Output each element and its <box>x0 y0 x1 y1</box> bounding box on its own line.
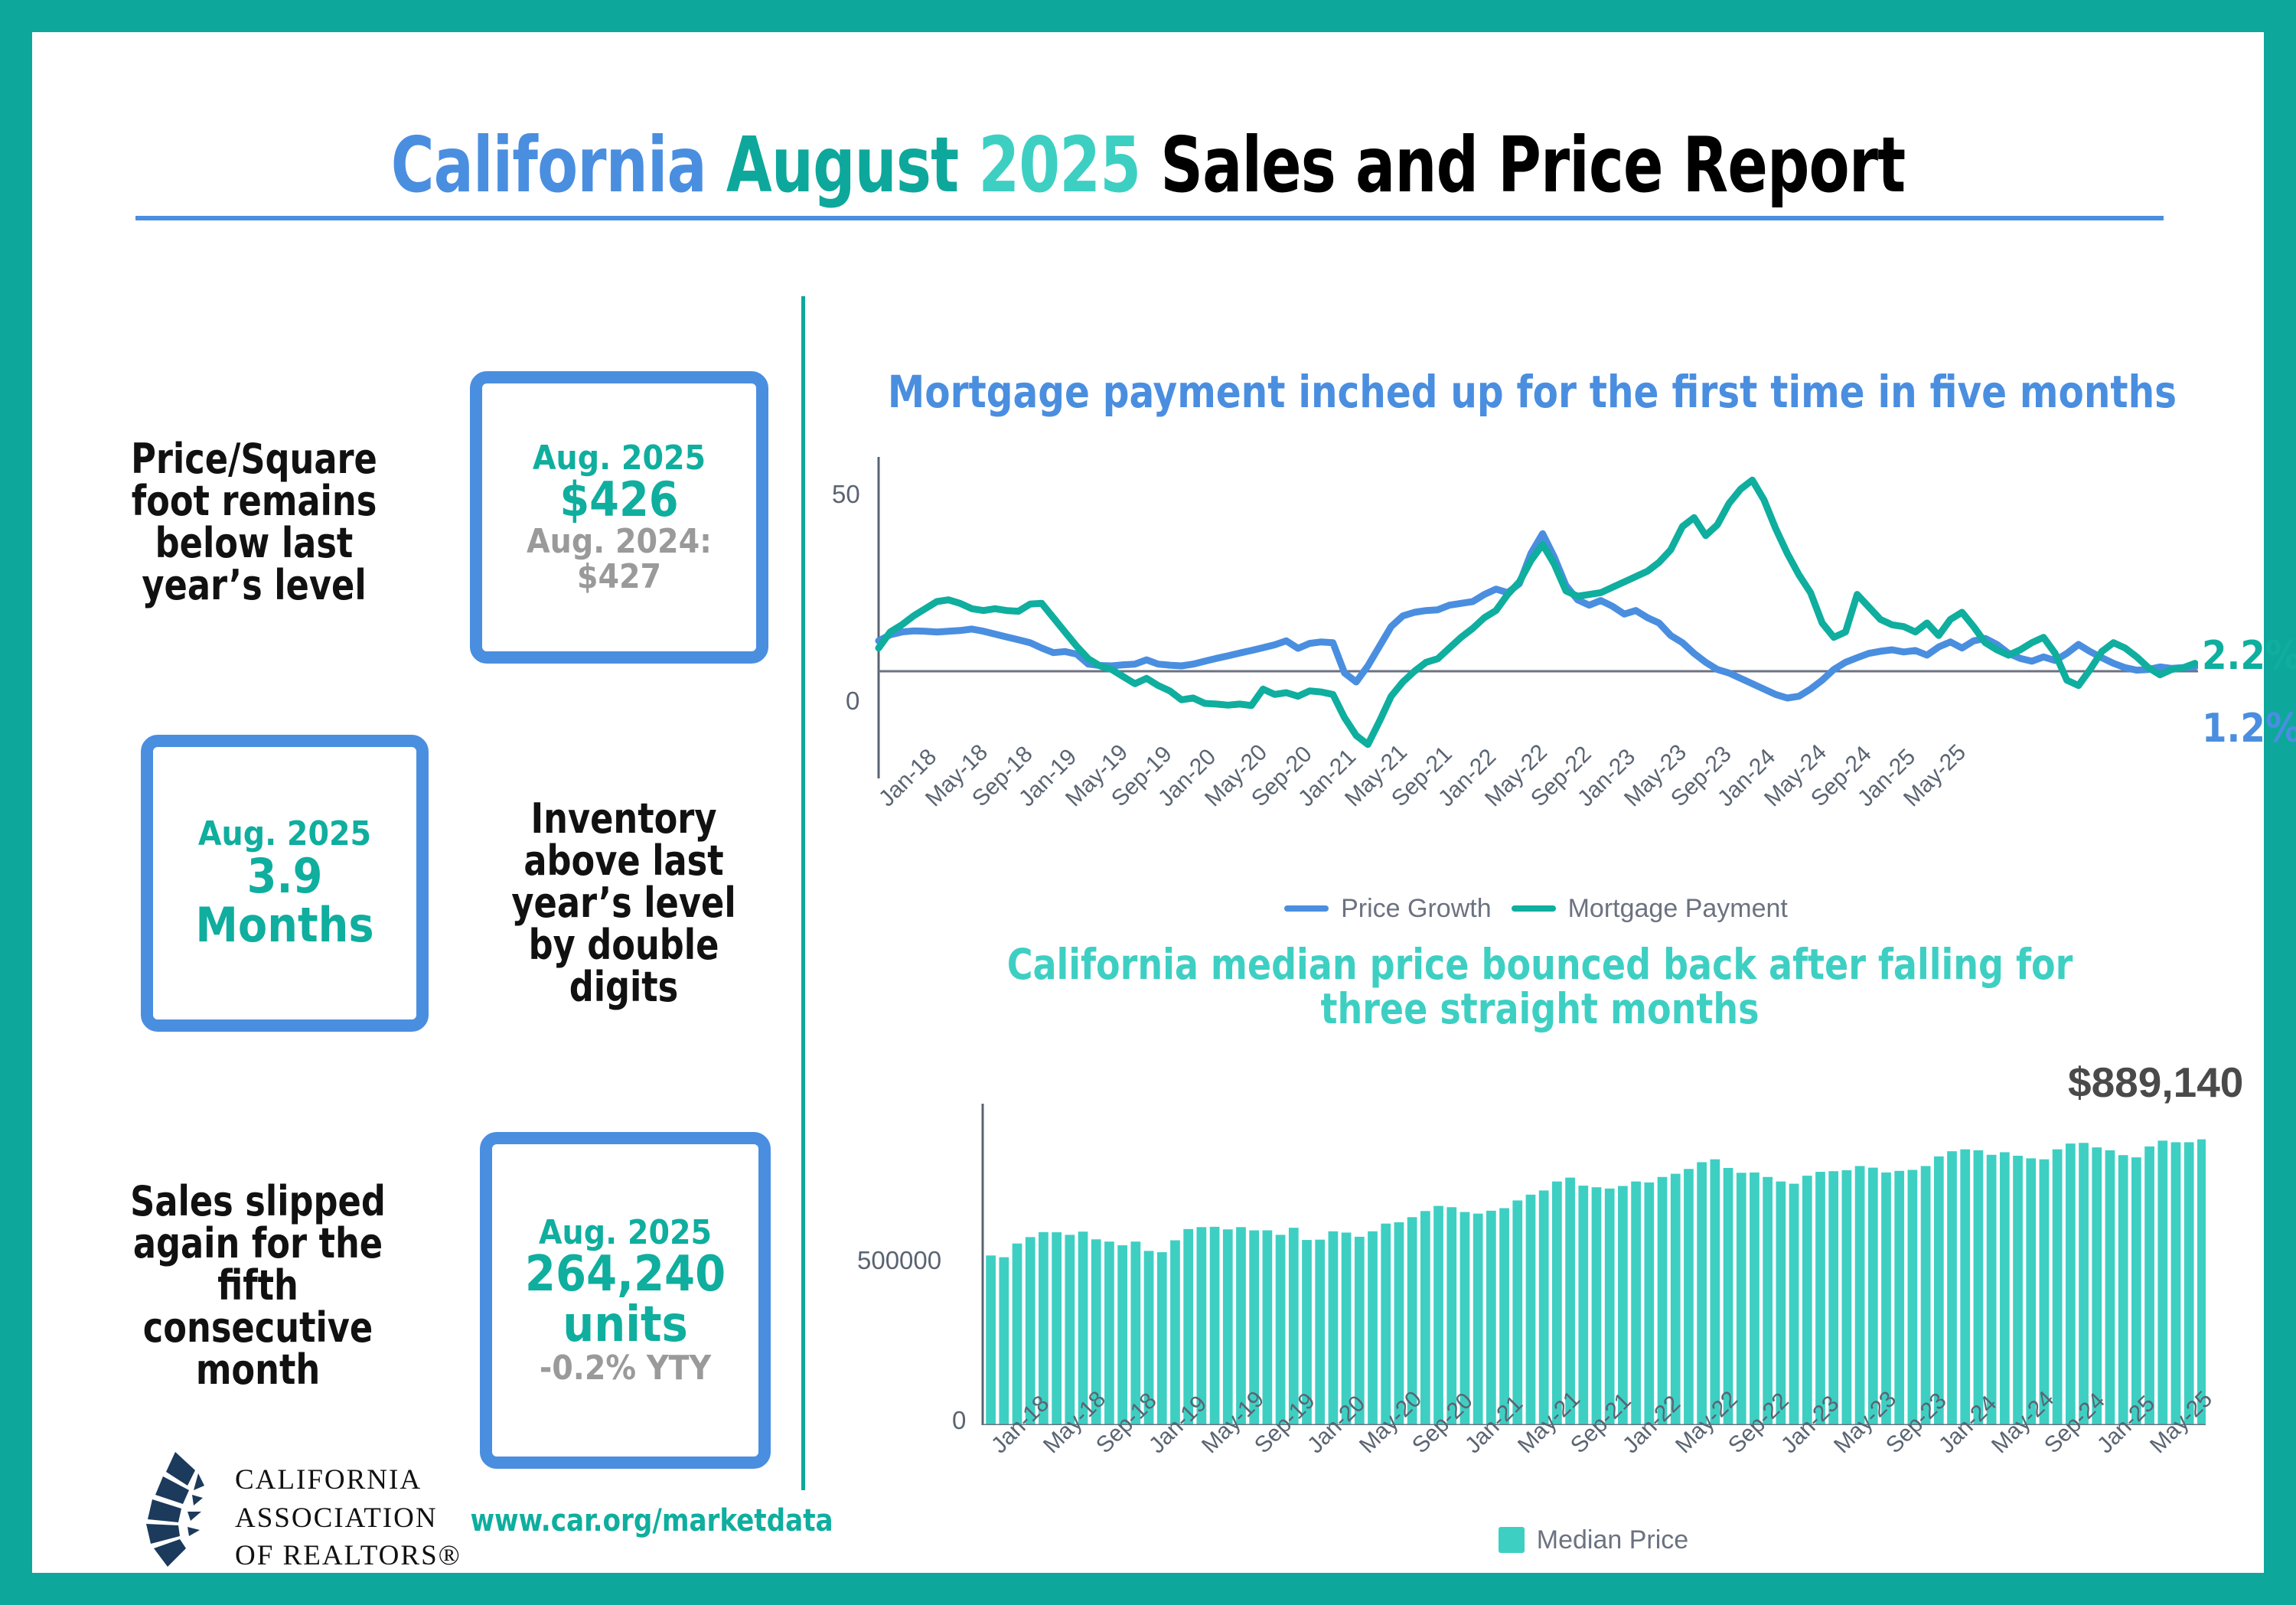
stat-box-price-per-sqft: Aug. 2025 $426 Aug. 2024: $427 <box>470 371 768 664</box>
bar-chart-title: California median price bounced back aft… <box>970 943 2109 1032</box>
stat-box-sales: Aug. 2025 264,240 units -0.2% YTY <box>480 1132 771 1469</box>
title-part-month: August <box>726 120 978 210</box>
stat-value-unit-label: units <box>563 1300 688 1351</box>
stat-value: $426 <box>559 475 678 524</box>
logo-line-2: ASSOCIATION <box>235 1499 461 1538</box>
marketdata-url[interactable]: www.car.org/marketdata <box>470 1503 833 1538</box>
stat-sub-line2: $427 <box>577 559 661 594</box>
line-chart-plot <box>874 457 2198 778</box>
legend-label-price-growth: Price Growth <box>1341 894 1492 924</box>
legend-item-price-growth[interactable]: Price Growth <box>1284 894 1492 924</box>
vertical-divider <box>801 296 805 1490</box>
line-end-label-price: 1.2% <box>2202 706 2296 752</box>
car-logo-text: CALIFORNIA ASSOCIATION OF REALTORS® <box>235 1461 461 1575</box>
line-y-tick-0: 0 <box>846 687 859 716</box>
line-chart-legend: Price Growth Mortgage Payment <box>874 889 2198 928</box>
line-y-tick-50: 50 <box>832 480 860 509</box>
logo-line-1: CALIFORNIA <box>235 1461 461 1499</box>
stat-sub-yty: -0.2% YTY <box>540 1351 711 1385</box>
title-part-year: 2025 <box>978 120 1160 210</box>
stat-box-inventory: Aug. 2025 3.9 Months <box>141 735 429 1032</box>
legend-swatch-median-price <box>1499 1527 1525 1553</box>
stat-value-units: 264,240 <box>525 1250 726 1300</box>
legend-label-mortgage-payment: Mortgage Payment <box>1568 894 1788 924</box>
report-card: California August 2025 Sales and Price R… <box>32 32 2264 1573</box>
stat-period: Aug. 2025 <box>198 817 371 851</box>
blurb-inventory: Inventory above last year’s level by dou… <box>487 798 762 1008</box>
stat-value: 3.9 Months <box>153 852 416 950</box>
car-logo: CALIFORNIA ASSOCIATION OF REALTORS® <box>128 1444 495 1582</box>
blurb-price-per-sqft: Price/Square foot remains below last yea… <box>113 438 395 606</box>
legend-label-median-price: Median Price <box>1537 1525 1688 1555</box>
title-part-california: California <box>391 120 726 210</box>
car-logo-mark <box>128 1450 227 1573</box>
bar-chart <box>981 1104 2206 1425</box>
legend-swatch-mortgage-payment <box>1512 905 1556 912</box>
title-divider <box>135 216 2164 220</box>
bar-y-tick-500000: 500000 <box>857 1246 941 1275</box>
line-chart-title: Mortgage payment inched up for the first… <box>870 369 2194 416</box>
stat-period: Aug. 2025 <box>533 441 706 475</box>
legend-item-mortgage-payment[interactable]: Mortgage Payment <box>1512 894 1788 924</box>
legend-item-median-price[interactable]: Median Price <box>1499 1525 1688 1555</box>
title-part-suffix: Sales and Price Report <box>1160 120 1905 210</box>
blurb-sales: Sales slipped again for the fifth consec… <box>110 1180 406 1391</box>
logo-line-3: OF REALTORS® <box>235 1537 461 1575</box>
line-chart <box>874 457 2198 778</box>
stat-period: Aug. 2025 <box>539 1215 712 1250</box>
bar-y-tick-0: 0 <box>952 1406 966 1435</box>
bar-chart-legend: Median Price <box>981 1521 2206 1559</box>
page-title: California August 2025 Sales and Price R… <box>188 120 2108 210</box>
legend-swatch-price-growth <box>1284 905 1329 912</box>
stat-sub-line1: Aug. 2024: <box>527 524 712 559</box>
line-end-label-mortgage: 2.2% <box>2202 633 2296 679</box>
bar-chart-plot <box>981 1104 2206 1425</box>
bar-chart-end-label: $889,140 <box>2068 1058 2243 1107</box>
